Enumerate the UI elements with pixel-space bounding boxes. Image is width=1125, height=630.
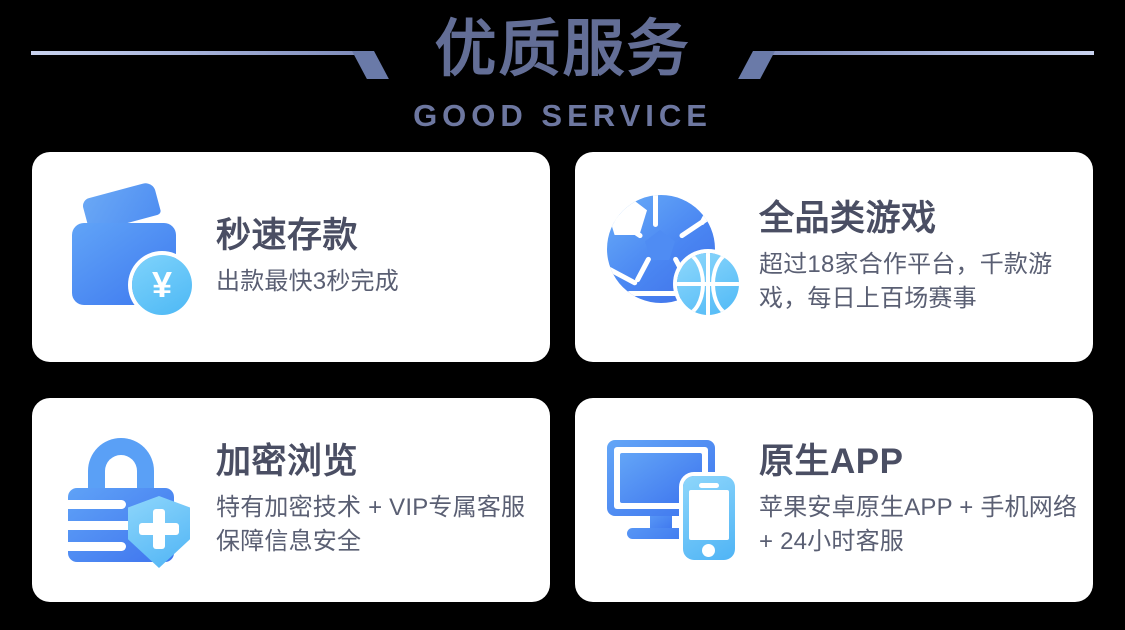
feature-card-instant-deposit[interactable]: ¥ 秒速存款 出款最快3秒完成 [32, 152, 550, 362]
card-title: 全品类游戏 [759, 198, 1079, 240]
basketball-icon [677, 253, 739, 315]
card-icon-slot [601, 430, 751, 570]
feature-card-encrypted-browsing[interactable]: 加密浏览 特有加密技术 + VIP专属客服保障信息安全 [32, 398, 550, 602]
card-description: 出款最快3秒完成 [216, 265, 536, 299]
card-icon-slot: ¥ [58, 187, 208, 327]
page-subtitle: GOOD SERVICE [0, 98, 1125, 134]
basketball-arc-right [711, 253, 739, 315]
feature-card-all-category-games[interactable]: 全品类游戏 超过18家合作平台，千款游戏，每日上百场赛事 [575, 152, 1093, 362]
card-title: 加密浏览 [216, 441, 536, 483]
soccer-seam [653, 195, 658, 227]
soccer-basketball-icon [605, 191, 745, 323]
phone-screen-shape [689, 490, 729, 540]
wallet-coin-icon: ¥ [66, 195, 198, 319]
soccer-pentagon-fill [645, 230, 675, 260]
card-text-block: 秒速存款 出款最快3秒完成 [208, 215, 550, 299]
basketball-arc-left [677, 253, 705, 315]
lock-slot [68, 542, 126, 551]
card-icon-slot [601, 187, 751, 327]
card-title: 秒速存款 [216, 215, 536, 257]
soccer-seam [634, 256, 652, 283]
card-description: 超过18家合作平台，千款游戏，每日上百场赛事 [759, 248, 1079, 316]
card-description: 苹果安卓原生APP + 手机网络 + 24小时客服 [759, 491, 1079, 559]
card-description: 特有加密技术 + VIP专属客服保障信息安全 [216, 491, 536, 559]
card-text-block: 加密浏览 特有加密技术 + VIP专属客服保障信息安全 [208, 441, 550, 559]
shield-cross-vertical [153, 509, 165, 549]
phone-home-button [702, 544, 715, 557]
yen-coin-icon: ¥ [132, 255, 192, 315]
yen-symbol: ¥ [132, 255, 192, 315]
feature-card-native-app[interactable]: 原生APP 苹果安卓原生APP + 手机网络 + 24小时客服 [575, 398, 1093, 602]
monitor-phone-icon [607, 440, 745, 560]
soccer-seam [607, 265, 638, 286]
card-icon-slot [58, 430, 208, 570]
section-header: 优质服务 GOOD SERVICE [0, 0, 1125, 150]
card-title: 原生APP [759, 441, 1079, 483]
promo-banner: 优质服务 GOOD SERVICE ¥ 秒速存款 出款最快3秒完成 [0, 0, 1125, 630]
phone-speaker-shape [699, 483, 719, 488]
card-text-block: 原生APP 苹果安卓原生APP + 手机网络 + 24小时客服 [751, 441, 1093, 559]
card-text-block: 全品类游戏 超过18家合作平台，千款游戏，每日上百场赛事 [751, 198, 1093, 316]
lock-shield-icon [66, 436, 200, 562]
feature-card-grid: ¥ 秒速存款 出款最快3秒完成 [32, 152, 1093, 602]
lock-slot [68, 500, 126, 509]
page-title: 优质服务 [0, 12, 1125, 88]
